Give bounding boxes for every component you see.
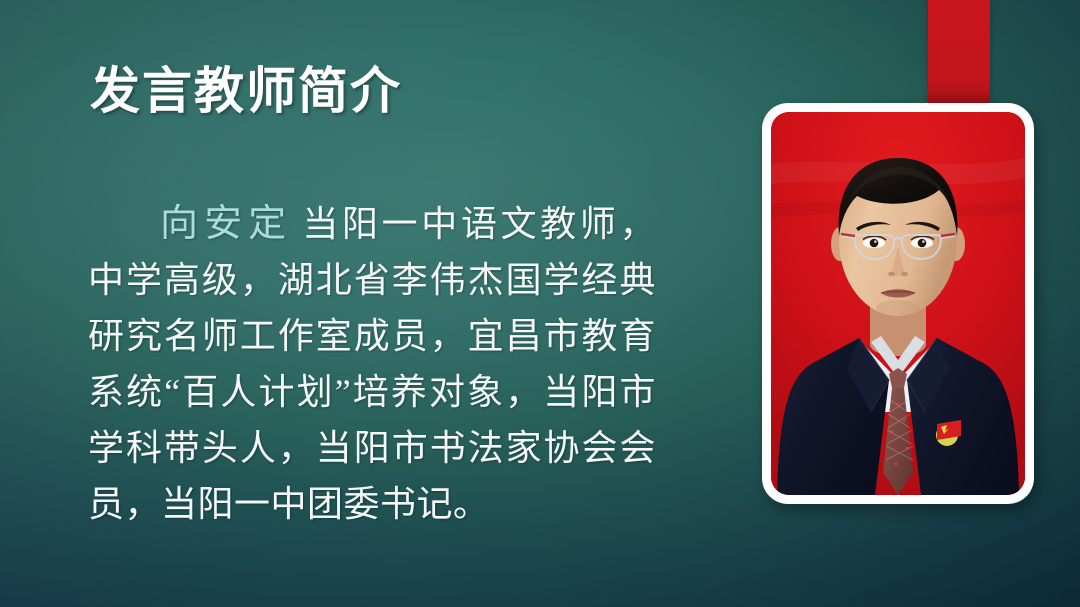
page-title: 发言教师简介 <box>90 64 402 118</box>
portrait-illustration <box>771 112 1025 495</box>
presentation-slide: 发言教师简介 向安定当阳一中语文教师，中学高级，湖北省李伟杰国学经典研究名师工作… <box>0 0 1080 607</box>
portrait-photo <box>771 112 1025 495</box>
biography-paragraph: 向安定当阳一中语文教师，中学高级，湖北省李伟杰国学经典研究名师工作室成员，宜昌市… <box>88 196 656 532</box>
teacher-name: 向安定 <box>160 203 302 245</box>
teacher-description: 当阳一中语文教师，中学高级，湖北省李伟杰国学经典研究名师工作室成员，宜昌市教育系… <box>88 204 656 524</box>
portrait-frame <box>762 103 1034 504</box>
biography-block: 向安定当阳一中语文教师，中学高级，湖北省李伟杰国学经典研究名师工作室成员，宜昌市… <box>88 196 656 532</box>
